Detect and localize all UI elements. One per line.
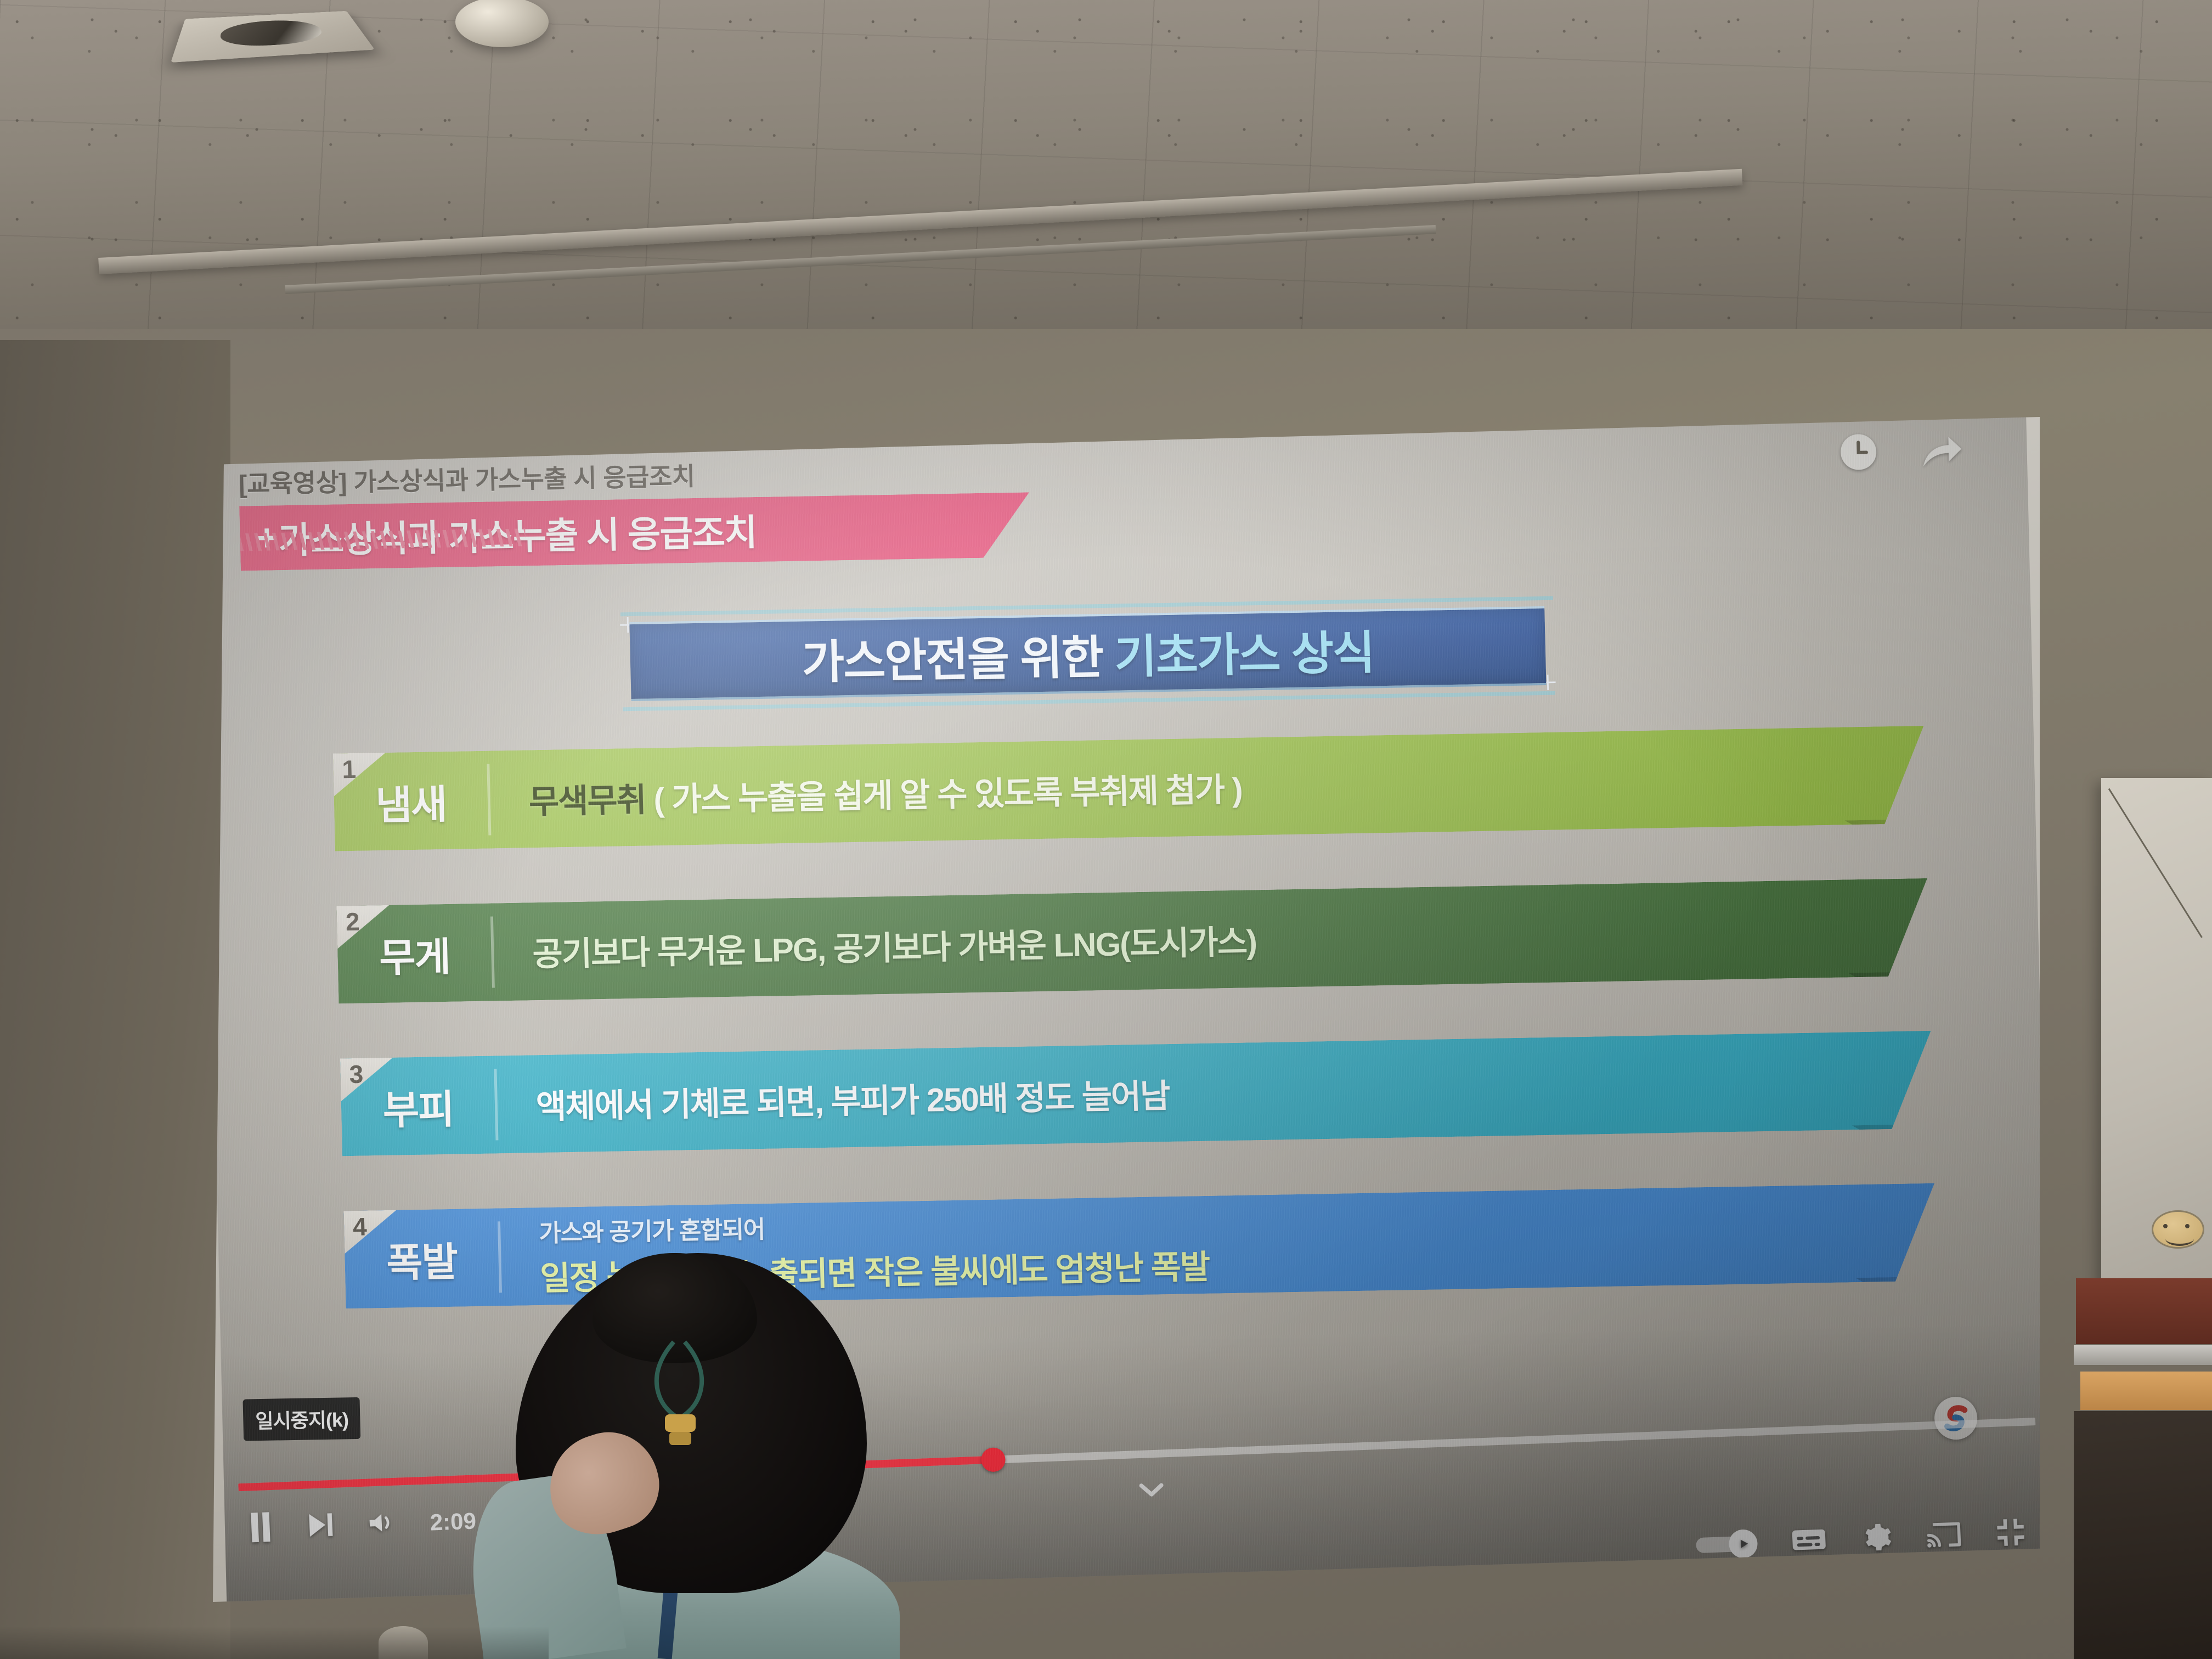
player-left-controls: 2:09 / xyxy=(246,1503,490,1547)
ceiling-texture xyxy=(0,0,2212,351)
subtitles-cc-icon[interactable] xyxy=(1791,1525,1827,1556)
row-shadow-fold xyxy=(1844,819,1927,850)
row-label: 폭발 xyxy=(344,1228,499,1289)
bunting-string xyxy=(2108,788,2203,938)
scene-root: [교육영상] 가스상식과 가스누출 시 응급조치 가스상식과 가스누출 시 응급… xyxy=(0,0,2212,1659)
exit-fullscreen-icon[interactable] xyxy=(1995,1516,2027,1551)
share-arrow-icon[interactable] xyxy=(1918,429,1967,476)
row-lead-text: 공기보다 무거운 LPG, 공기보다 가벼운 LNG(도시가스) xyxy=(532,904,1907,975)
row-label: 무게 xyxy=(337,923,492,984)
classroom-poster-board xyxy=(2101,778,2212,1294)
pause-tooltip: 일시중지(k) xyxy=(242,1397,360,1441)
next-track-icon[interactable] xyxy=(306,1511,336,1542)
cast-icon[interactable] xyxy=(1926,1519,1962,1553)
autoplay-toggle-icon[interactable] xyxy=(1695,1529,1758,1560)
hair-clip xyxy=(641,1338,718,1464)
table-row: 2 무게 공기보다 무거운 LPG, 공기보다 가벼운 LNG(도시가스) xyxy=(336,878,1929,1004)
cabinet-shadow xyxy=(2074,1411,2212,1659)
table-row: 1 냄새 무색무취 ( 가스 누출을 쉽게 알 수 있도록 부취제 첨가 ) xyxy=(333,726,1926,851)
page-title: 가스안전을 위한 기초가스 상식 xyxy=(801,616,1374,692)
autoplay-knob xyxy=(1728,1529,1758,1559)
row-label: 부피 xyxy=(341,1076,495,1136)
slide-title-bar: 가스안전을 위한 기초가스 상식 xyxy=(629,606,1546,701)
pause-icon[interactable] xyxy=(246,1511,275,1547)
row-shadow-fold xyxy=(1848,972,1931,1003)
table-row: 3 부피 액체에서 기체로 되면, 부피가 250배 정도 늘어남 xyxy=(340,1031,1933,1156)
row-lead-text: 무색무취 xyxy=(528,781,646,820)
ceiling xyxy=(0,0,2212,351)
person-foreground xyxy=(483,1242,900,1659)
row-detail-text: ( 가스 누출을 쉽게 알 수 있도록 부취제 첨가 ) xyxy=(645,771,1242,818)
row-shadow-fold xyxy=(1852,1124,1935,1155)
slide-title-part1: 가스안전을 위한 xyxy=(802,631,1115,688)
wooden-shelf xyxy=(2080,1372,2212,1410)
slide-title-part2: 기초가스 상식 xyxy=(1114,627,1374,682)
wooden-cabinet-top xyxy=(2076,1278,2212,1344)
gas-safety-swirl-logo[interactable] xyxy=(1934,1396,1978,1440)
floor-shadow xyxy=(0,1626,549,1659)
row-body: 무색무취 ( 가스 누출을 쉽게 알 수 있도록 부취제 첨가 ) xyxy=(490,751,1926,823)
slide-header: [교육영상] 가스상식과 가스누출 시 응급조치 가스상식과 가스누출 시 응급… xyxy=(238,443,1447,571)
gear-icon[interactable] xyxy=(1860,1521,1893,1556)
progress-knob[interactable] xyxy=(980,1447,1006,1472)
volume-icon[interactable] xyxy=(367,1509,399,1540)
row-body: 공기보다 무거운 LPG, 공기보다 가벼운 LNG(도시가스) xyxy=(493,903,1929,976)
chevron-down-icon[interactable] xyxy=(1139,1483,1164,1498)
row-shadow-fold xyxy=(1855,1277,1938,1308)
youtube-top-overlay xyxy=(1837,429,1967,477)
metal-shelf-rail xyxy=(2074,1345,2212,1365)
row-lead-text: 액체에서 기체로 되면, 부피가 250배 정도 늘어남 xyxy=(535,1056,1911,1128)
wall-left-shadow xyxy=(0,340,230,1659)
row-label: 냄새 xyxy=(334,771,488,831)
clock-icon[interactable] xyxy=(1837,430,1881,476)
smiley-face-drawing xyxy=(2152,1210,2204,1249)
slide-title-block: 가스안전을 위한 기초가스 상식 xyxy=(620,596,1555,712)
row-body: 액체에서 기체로 되면, 부피가 250배 정도 늘어남 xyxy=(497,1056,1933,1128)
